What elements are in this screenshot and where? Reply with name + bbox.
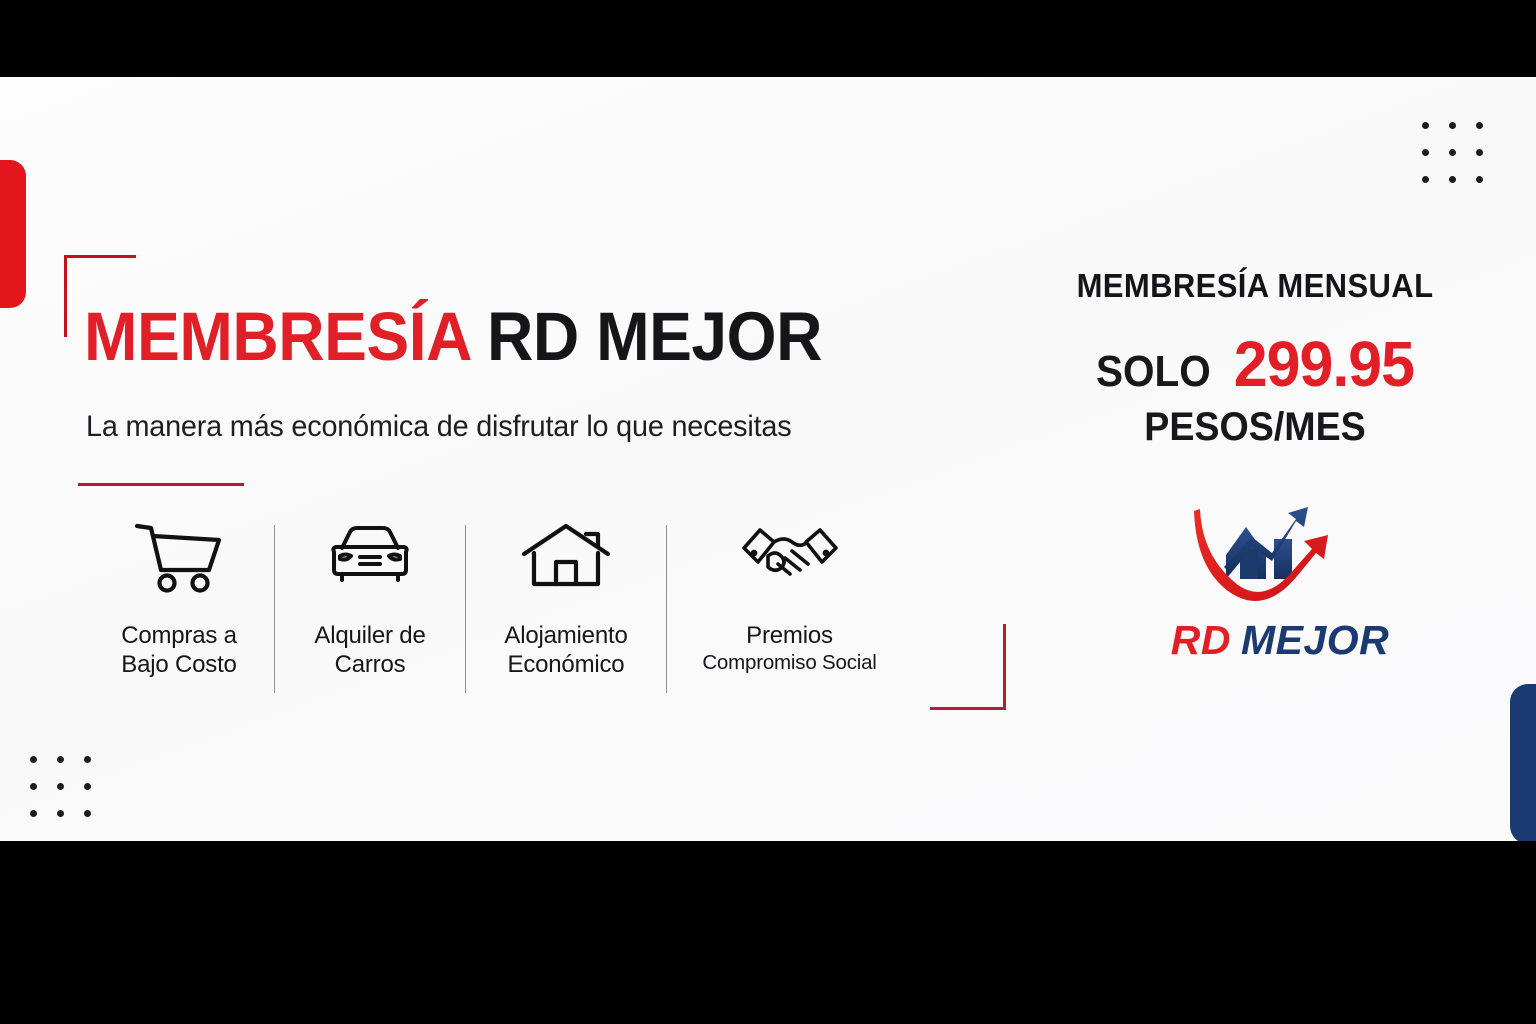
feature-list: Compras aBajo Costo Alquiler deCarros (84, 517, 1014, 707)
feature-item-compras: Compras aBajo Costo (84, 517, 274, 680)
price-prefix: SOLO (1096, 347, 1211, 397)
feature-label: AlojamientoEconómico (504, 621, 627, 680)
red-rule-divider (78, 483, 244, 486)
feature-label: PremiosCompromiso Social (702, 621, 876, 675)
promo-card: MEMBRESÍA RD MEJOR La manera más económi… (0, 77, 1536, 841)
feature-label: Compras aBajo Costo (121, 621, 237, 680)
feature-item-alquiler: Alquiler deCarros (275, 517, 465, 680)
brand-name-primary: RD (1171, 617, 1231, 663)
price-title: MEMBRESÍA MENSUAL (1048, 267, 1462, 305)
brand-name-secondary: MEJOR (1241, 617, 1389, 663)
brand-logo-text: RDMEJOR (1145, 617, 1415, 664)
dot-grid-top-right-decoration (1422, 122, 1483, 183)
feature-item-premios: PremiosCompromiso Social (667, 517, 912, 675)
dot-grid-bottom-left-decoration (30, 756, 91, 817)
page-title-rest: RD MEJOR (487, 298, 822, 375)
rd-mejor-growth-arrow-logo-icon (1180, 495, 1380, 615)
right-blue-pill-decoration (1510, 684, 1536, 841)
page-title: MEMBRESÍA RD MEJOR (84, 302, 822, 371)
price-row: SOLO 299.95 (1035, 327, 1475, 401)
feature-item-alojamiento: AlojamientoEconómico (466, 517, 666, 680)
left-red-pill-decoration (0, 160, 26, 308)
price-unit: PESOS/MES (1048, 405, 1462, 450)
house-icon (518, 517, 614, 597)
feature-label: Alquiler deCarros (314, 621, 425, 680)
banner-stage: MEMBRESÍA RD MEJOR La manera más económi… (0, 0, 1536, 1024)
price-block: MEMBRESÍA MENSUAL SOLO 299.95 PESOS/MES (1035, 267, 1475, 450)
shopping-cart-icon (129, 517, 229, 597)
page-subtitle: La manera más económica de disfrutar lo … (86, 410, 791, 444)
car-icon (320, 517, 420, 597)
price-amount: 299.95 (1234, 327, 1414, 401)
page-title-highlight: MEMBRESÍA (84, 298, 470, 375)
brand-logo: RDMEJOR (1145, 495, 1415, 664)
handshake-icon (738, 517, 842, 597)
